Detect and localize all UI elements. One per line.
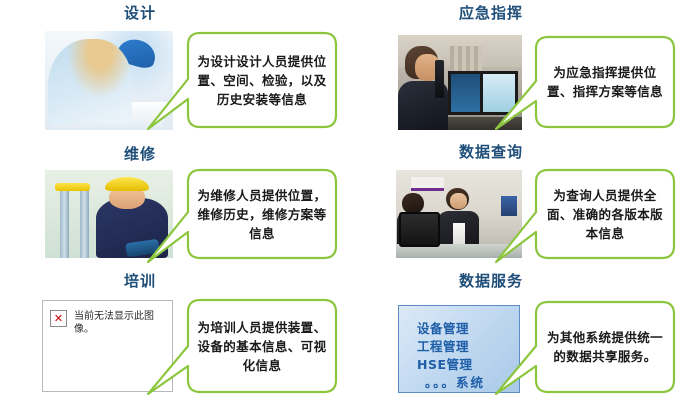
ladder-rail-shape <box>80 184 89 258</box>
callout-design: 为设计设计人员提供位置、空间、检验，以及历史安装等信息 <box>186 31 338 129</box>
callout-query-text: 为查询人员提供全面、准确的各版本版本信息 <box>534 168 676 260</box>
hard-hat-shape <box>115 35 159 70</box>
section-title-dataservice: 数据服务 <box>433 272 549 290</box>
callout-dataservice-text: 为其他系统提供统一的数据共享服务。 <box>534 300 676 394</box>
broken-image-row: ✕ 当前无法显示此图像。 <box>43 301 172 336</box>
yellow-helmet-shape <box>105 177 149 191</box>
monitor-shape <box>448 71 484 115</box>
emergency-command-photo <box>398 35 522 130</box>
broken-image-text: 当前无法显示此图像。 <box>74 310 165 336</box>
data-service-item: 设备管理 <box>417 320 519 338</box>
blueprint-shape <box>53 102 168 128</box>
callout-design-text: 为设计设计人员提供位置、空间、检验，以及历史安装等信息 <box>186 31 338 129</box>
section-title-training: 培训 <box>95 272 185 290</box>
section-title-design: 设计 <box>95 4 185 22</box>
wall-sign-shape <box>411 177 444 191</box>
broken-image-placeholder: ✕ 当前无法显示此图像。 <box>42 300 173 392</box>
person-shirt-shape <box>453 223 466 244</box>
callout-training: 为培训人员提供装置、设备的基本信息、可视化信息 <box>186 298 338 394</box>
walkie-talkie-shape <box>435 60 444 98</box>
section-title-query: 数据查询 <box>433 143 549 161</box>
data-service-list: 设备管理 工程管理 HSE管理 。。。系统 <box>399 306 519 392</box>
section-title-maintenance: 维修 <box>95 145 185 163</box>
callout-training-text: 为培训人员提供装置、设备的基本信息、可视化信息 <box>186 298 338 394</box>
callout-maintenance: 为维修人员提供位置，维修历史，维修方案等信息 <box>186 168 338 260</box>
callout-emergency: 为应急指挥提供位置、指挥方案等信息 <box>534 35 676 129</box>
photo-content <box>45 31 173 130</box>
callout-dataservice: 为其他系统提供统一的数据共享服务。 <box>534 300 676 394</box>
maintenance-worker-photo <box>45 170 173 258</box>
ladder-top-shape <box>55 183 90 191</box>
person-head-shape <box>402 193 423 214</box>
cabinet-shape <box>501 196 517 215</box>
red-x-icon: ✕ <box>50 310 67 327</box>
data-service-item: 工程管理 <box>417 338 519 356</box>
diagram-canvas: 设计 为设计设计人员提供位置、空间、检验，以及历史安装等信息 应急指挥 <box>0 0 681 400</box>
data-query-office-photo <box>396 170 522 258</box>
design-engineer-photo <box>45 31 173 130</box>
data-service-box: 设备管理 工程管理 HSE管理 。。。系统 <box>398 305 520 393</box>
section-title-emergency: 应急指挥 <box>433 4 549 22</box>
photo-content <box>398 35 522 130</box>
person-face-shape <box>450 193 466 209</box>
photo-content <box>45 170 173 258</box>
monitor-shape <box>399 212 441 248</box>
data-service-item: HSE管理 <box>417 356 519 374</box>
photo-content <box>396 170 522 258</box>
callout-maintenance-text: 为维修人员提供位置，维修历史，维修方案等信息 <box>186 168 338 260</box>
callout-emergency-text: 为应急指挥提供位置、指挥方案等信息 <box>534 35 676 129</box>
callout-query: 为查询人员提供全面、准确的各版本版本信息 <box>534 168 676 260</box>
ladder-rail-shape <box>60 184 69 258</box>
